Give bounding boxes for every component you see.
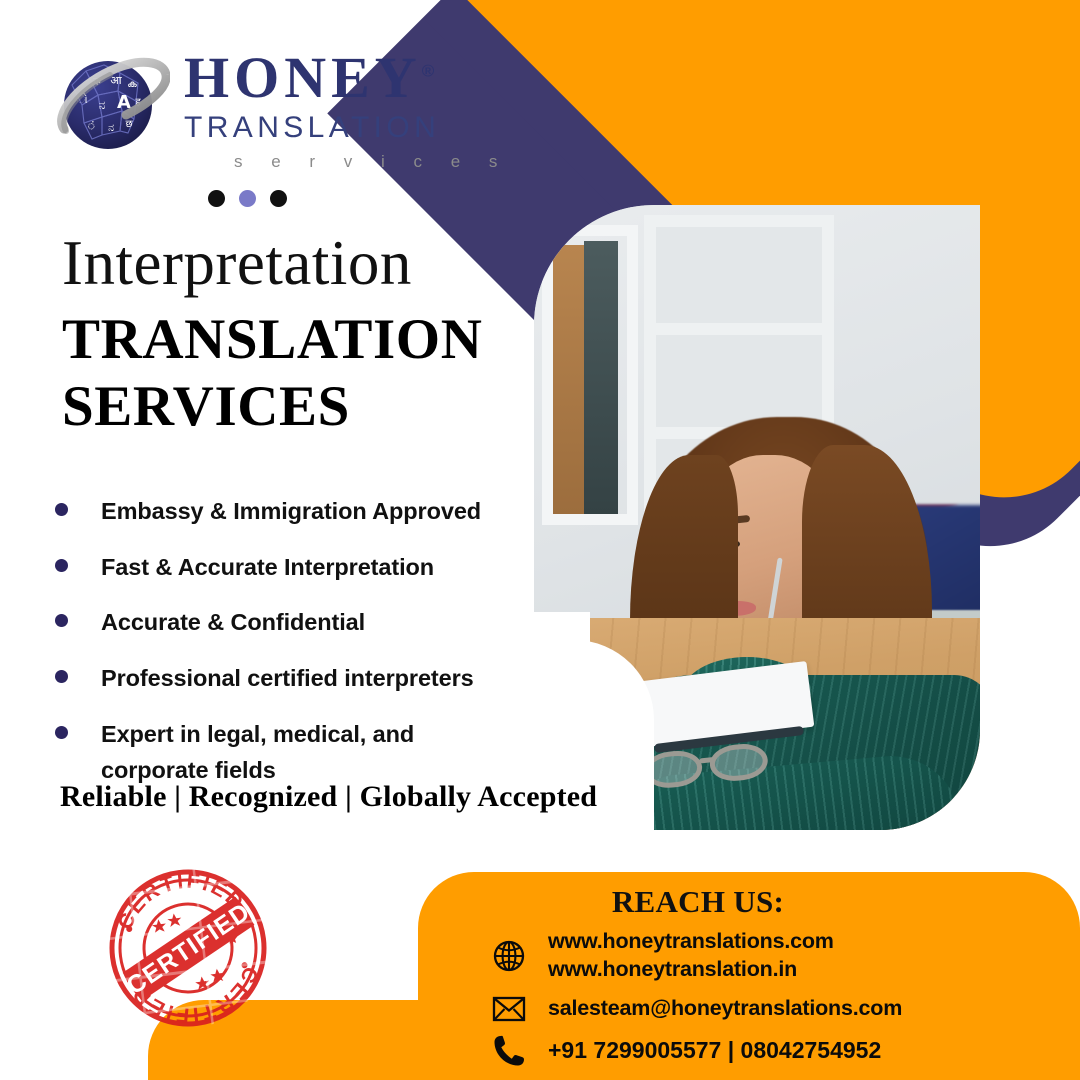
logo-subword: TRANSLATION	[184, 109, 509, 147]
website-line-1: www.honeytranslations.com	[548, 928, 834, 956]
headline-block: Interpretation TRANSLATION SERVICES	[62, 232, 482, 440]
dot-3	[270, 190, 287, 207]
logo-wordmark: HONEY®	[184, 50, 509, 107]
bullet-dot-icon	[55, 559, 68, 572]
website-line-2: www.honeytranslation.in	[548, 956, 834, 984]
list-item: Accurate & Confidential	[55, 605, 525, 641]
headline-main-line-1: TRANSLATION	[62, 307, 482, 374]
contact-heading: REACH US:	[418, 884, 978, 920]
contact-row-email[interactable]: salesteam@honeytranslations.com	[492, 995, 902, 1023]
bullet-dot-icon	[55, 614, 68, 627]
svg-text:ക: ക	[127, 79, 137, 90]
dot-separator	[208, 190, 287, 207]
logo-tagword: s e r v i c e s	[184, 152, 509, 172]
bullet-dot-icon	[55, 503, 68, 516]
contact-email: salesteam@honeytranslations.com	[548, 995, 902, 1023]
dot-1	[208, 190, 225, 207]
svg-text:ನ: ನ	[108, 121, 114, 134]
svg-text:छ: छ	[125, 119, 133, 130]
registered-mark: ®	[422, 62, 435, 81]
tagline: Reliable | Recognized | Globally Accepte…	[60, 780, 597, 814]
globe-languages-icon: ক आ ക ો ನ A ह ் ನ छ	[52, 51, 170, 169]
feature-list: Embassy & Immigration Approved Fast & Ac…	[55, 494, 525, 808]
dot-2	[239, 190, 256, 207]
certified-stamp-icon: CERTIFIED CERTIFIED	[97, 857, 280, 1040]
contact-list: www.honeytranslations.com www.honeytrans…	[492, 928, 902, 1079]
bullet-dot-icon	[55, 726, 68, 739]
headline-main: TRANSLATION SERVICES	[62, 307, 482, 440]
bullet-dot-icon	[55, 670, 68, 683]
list-item-label: Fast & Accurate Interpretation	[101, 550, 434, 586]
svg-text:்: ்	[87, 119, 97, 132]
envelope-icon	[492, 995, 536, 1023]
contact-row-phone[interactable]: +91 7299005577 | 08042754952	[492, 1034, 902, 1068]
svg-text:ನ: ನ	[99, 98, 106, 112]
list-item: Professional certified interpreters	[55, 661, 525, 697]
list-item-label: Embassy & Immigration Approved	[101, 494, 481, 530]
list-item: Expert in legal, medical, and corporate …	[55, 717, 525, 788]
photo-notch-cutout-2	[534, 612, 590, 672]
list-item-label: Accurate & Confidential	[101, 605, 365, 641]
globe-icon	[492, 939, 536, 973]
list-item: Fast & Accurate Interpretation	[55, 550, 525, 586]
headline-script: Interpretation	[62, 232, 482, 295]
contact-row-website[interactable]: www.honeytranslations.com www.honeytrans…	[492, 928, 902, 984]
poster-canvas: ক आ ക ો ನ A ह ் ನ छ HONEY® TRANSLATION s…	[0, 0, 1080, 1080]
headline-main-line-2: SERVICES	[62, 374, 482, 441]
contact-phone: +91 7299005577 | 08042754952	[548, 1036, 881, 1066]
list-item-label: Expert in legal, medical, and corporate …	[101, 717, 525, 788]
list-item-label: Professional certified interpreters	[101, 661, 474, 697]
contact-website: www.honeytranslations.com www.honeytrans…	[548, 928, 834, 984]
brand-logo[interactable]: ক आ ക ો ನ A ह ் ನ छ HONEY® TRANSLATION s…	[52, 48, 509, 172]
list-item: Embassy & Immigration Approved	[55, 494, 525, 530]
phone-icon	[492, 1034, 536, 1068]
